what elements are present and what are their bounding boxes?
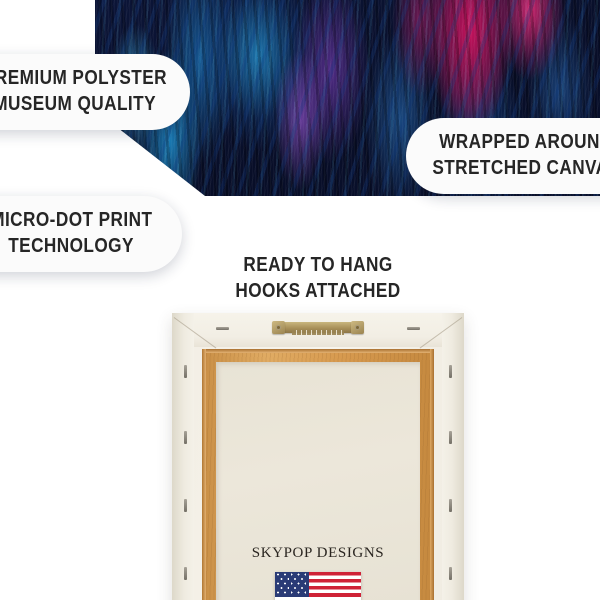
- flag-canton: [275, 572, 309, 597]
- canvas-left-edge: [172, 313, 194, 600]
- us-flag-icon: [275, 572, 361, 600]
- canvas-back-panel: SKYPOP DESIGNS: [216, 362, 420, 600]
- hanger-teeth: [292, 330, 344, 335]
- wooden-stretcher-frame: SKYPOP DESIGNS: [202, 349, 434, 600]
- stretcher-bevel-right: [430, 349, 434, 600]
- feature-pill-premium: PREMIUM POLYSTER MUSEUM QUALITY: [0, 54, 190, 130]
- staple: [184, 365, 187, 378]
- staple: [184, 567, 187, 580]
- canvas-right-edge: [442, 313, 464, 600]
- screw-icon: [276, 325, 281, 330]
- staple: [449, 365, 452, 378]
- stretcher-bevel-left: [202, 349, 206, 600]
- feature-pill-micro-dot-line1: MICRO-DOT PRINT: [0, 208, 152, 234]
- feature-pill-wrapped: WRAPPED AROUND STRETCHED CANVAS: [406, 118, 600, 194]
- sawtooth-hanger-icon: [272, 321, 364, 335]
- ready-to-hang-caption-line2: HOOKS ATTACHED: [232, 278, 404, 304]
- feature-pill-micro-dot: MICRO-DOT PRINT TECHNOLOGY: [0, 196, 182, 272]
- canvas-back-product: SKYPOP DESIGNS: [172, 313, 464, 600]
- feature-pill-wrapped-line1: WRAPPED AROUND: [439, 130, 600, 156]
- hanger-plate-right: [351, 321, 364, 334]
- feature-pill-wrapped-line2: STRETCHED CANVAS: [432, 156, 600, 182]
- hanger-plate-left: [272, 321, 285, 334]
- screw-icon: [355, 325, 360, 330]
- staple: [216, 327, 229, 330]
- staple: [449, 499, 452, 512]
- ready-to-hang-caption-line1: READY TO HANG: [232, 252, 404, 278]
- product-feature-graphic: PREMIUM POLYSTER MUSEUM QUALITY WRAPPED …: [0, 0, 600, 600]
- staple: [449, 567, 452, 580]
- feature-pill-micro-dot-line2: TECHNOLOGY: [8, 234, 134, 260]
- staple: [184, 499, 187, 512]
- staple: [449, 431, 452, 444]
- feature-pill-premium-line2: MUSEUM QUALITY: [0, 92, 156, 118]
- feature-pill-premium-line1: PREMIUM POLYSTER: [0, 66, 167, 92]
- staple: [407, 327, 420, 330]
- brand-label: SKYPOP DESIGNS: [216, 545, 420, 562]
- ready-to-hang-caption: READY TO HANG HOOKS ATTACHED: [218, 252, 418, 304]
- staple: [184, 431, 187, 444]
- stretcher-bevel-top: [202, 349, 434, 353]
